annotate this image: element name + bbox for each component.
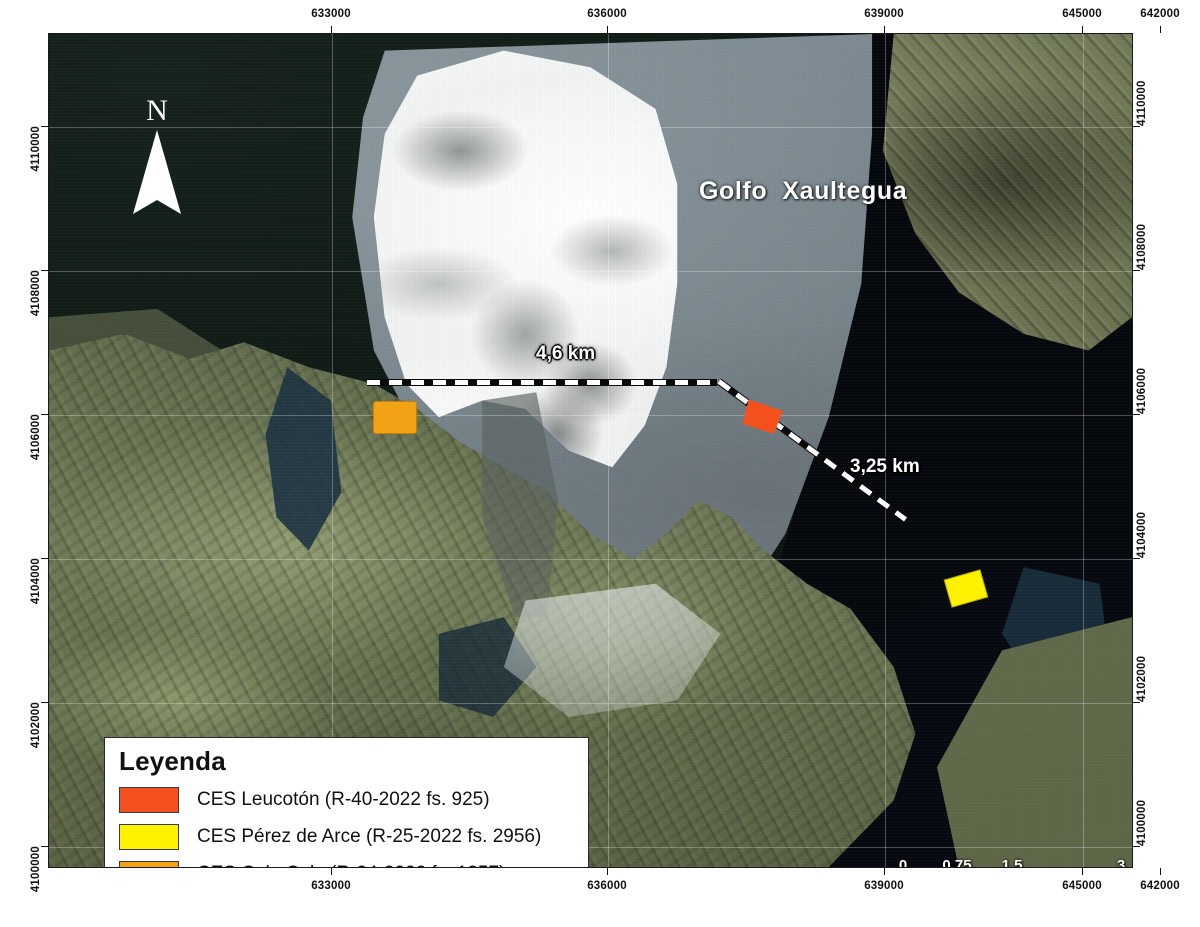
axis-tick-left [41,702,48,703]
axis-label-top: 639000 [864,8,904,20]
scale-bar: 00,751,53 km [903,857,1121,868]
axis-tick-top [1082,26,1083,33]
axis-label-right: 4110000 [1136,80,1148,126]
axis-label-left: 4100000 [30,846,42,892]
grid-line-vertical [608,34,609,867]
axis-label-right: 4106000 [1136,368,1148,414]
grid-line-horizontal [49,127,1132,128]
axis-label-top: 645000 [1062,8,1102,20]
grid-line-horizontal [49,703,1132,704]
axis-label-left: 4106000 [30,414,42,460]
legend-swatch [119,824,179,850]
legend-item-label: CES Pérez de Arce (R-25-2022 fs. 2956) [197,826,541,848]
legend-item-label: CES Leucotón (R-40-2022 fs. 925) [197,789,490,811]
scale-bar-tick-label: 0,75 [942,857,971,868]
distance-label-4-6km: 4,6 km [536,343,595,365]
axis-tick-top [884,26,885,33]
legend-item-label: CES Colo Colo (R-24-2022 fs. 1357) [197,863,505,869]
distance-line-colocolo-leucoton [367,379,717,386]
axis-tick-top [331,26,332,33]
axis-tick-right [1133,846,1140,847]
axis-label-bottom: 633000 [311,880,351,892]
scale-bar-tick-label: 1,5 [1002,857,1023,868]
north-arrow-letter: N [129,96,185,126]
axis-tick-right [1133,126,1140,127]
axis-label-bottom: 636000 [587,880,627,892]
axis-label-bottom: 639000 [864,880,904,892]
axis-label-left: 4102000 [30,702,42,748]
grid-line-vertical [885,34,886,867]
axis-label-right: 4108000 [1136,224,1148,270]
axis-tick-right [1133,414,1140,415]
axis-label-right: 4100000 [1136,800,1148,846]
axis-label-left: 4108000 [30,270,42,316]
axis-tick-right [1133,270,1140,271]
water-body-label: Golfo Xaultegua [699,177,907,206]
legend-item[interactable]: CES Pérez de Arce (R-25-2022 fs. 2956) [105,818,588,855]
axis-label-left: 4104000 [30,558,42,604]
legend-items: CES Leucotón (R-40-2022 fs. 925)CES Pére… [105,781,588,868]
axis-tick-top [1160,26,1161,33]
distance-line-dashes [367,380,717,385]
scale-bar-tick-label: 3 [1117,857,1125,868]
site-marker-colo-colo[interactable] [373,401,417,434]
grid-line-horizontal [49,415,1132,416]
axis-tick-bottom [607,868,608,875]
axis-label-bottom: 642000 [1140,880,1180,892]
axis-tick-bottom [884,868,885,875]
axis-label-top: 642000 [1140,8,1180,20]
axis-tick-left [41,270,48,271]
north-arrow-icon [129,130,185,216]
axis-label-bottom: 645000 [1062,880,1102,892]
scale-bar-tick-label: 0 [899,857,907,868]
legend-item[interactable]: CES Leucotón (R-40-2022 fs. 925) [105,781,588,818]
distance-label-3-25km: 3,25 km [850,456,920,478]
north-arrow: N [129,96,185,216]
axis-tick-right [1133,702,1140,703]
grid-line-vertical [1083,34,1084,867]
legend-swatch [119,787,179,813]
map-figure: N Golfo Xaultegua 4,6 km 3,25 km 00,751,… [0,0,1200,927]
grid-line-horizontal [49,559,1132,560]
axis-tick-left [41,846,48,847]
axis-label-right: 4102000 [1136,656,1148,702]
legend-title: Leyenda [119,746,588,777]
axis-tick-bottom [1082,868,1083,875]
axis-label-left: 4110000 [30,126,42,172]
legend-swatch [119,861,179,869]
legend-panel: Leyenda CES Leucotón (R-40-2022 fs. 925)… [104,737,589,868]
axis-label-top: 633000 [311,8,351,20]
axis-tick-left [41,126,48,127]
scale-bar-ticks: 00,751,53 [903,857,1121,868]
legend-item[interactable]: CES Colo Colo (R-24-2022 fs. 1357) [105,855,588,868]
grid-line-horizontal [49,271,1132,272]
axis-tick-left [41,414,48,415]
axis-label-right: 4104000 [1136,512,1148,558]
axis-tick-left [41,558,48,559]
axis-tick-bottom [331,868,332,875]
axis-tick-bottom [1160,868,1161,875]
axis-label-top: 636000 [587,8,627,20]
axis-tick-right [1133,558,1140,559]
axis-tick-top [607,26,608,33]
map-canvas[interactable]: N Golfo Xaultegua 4,6 km 3,25 km 00,751,… [48,33,1133,868]
